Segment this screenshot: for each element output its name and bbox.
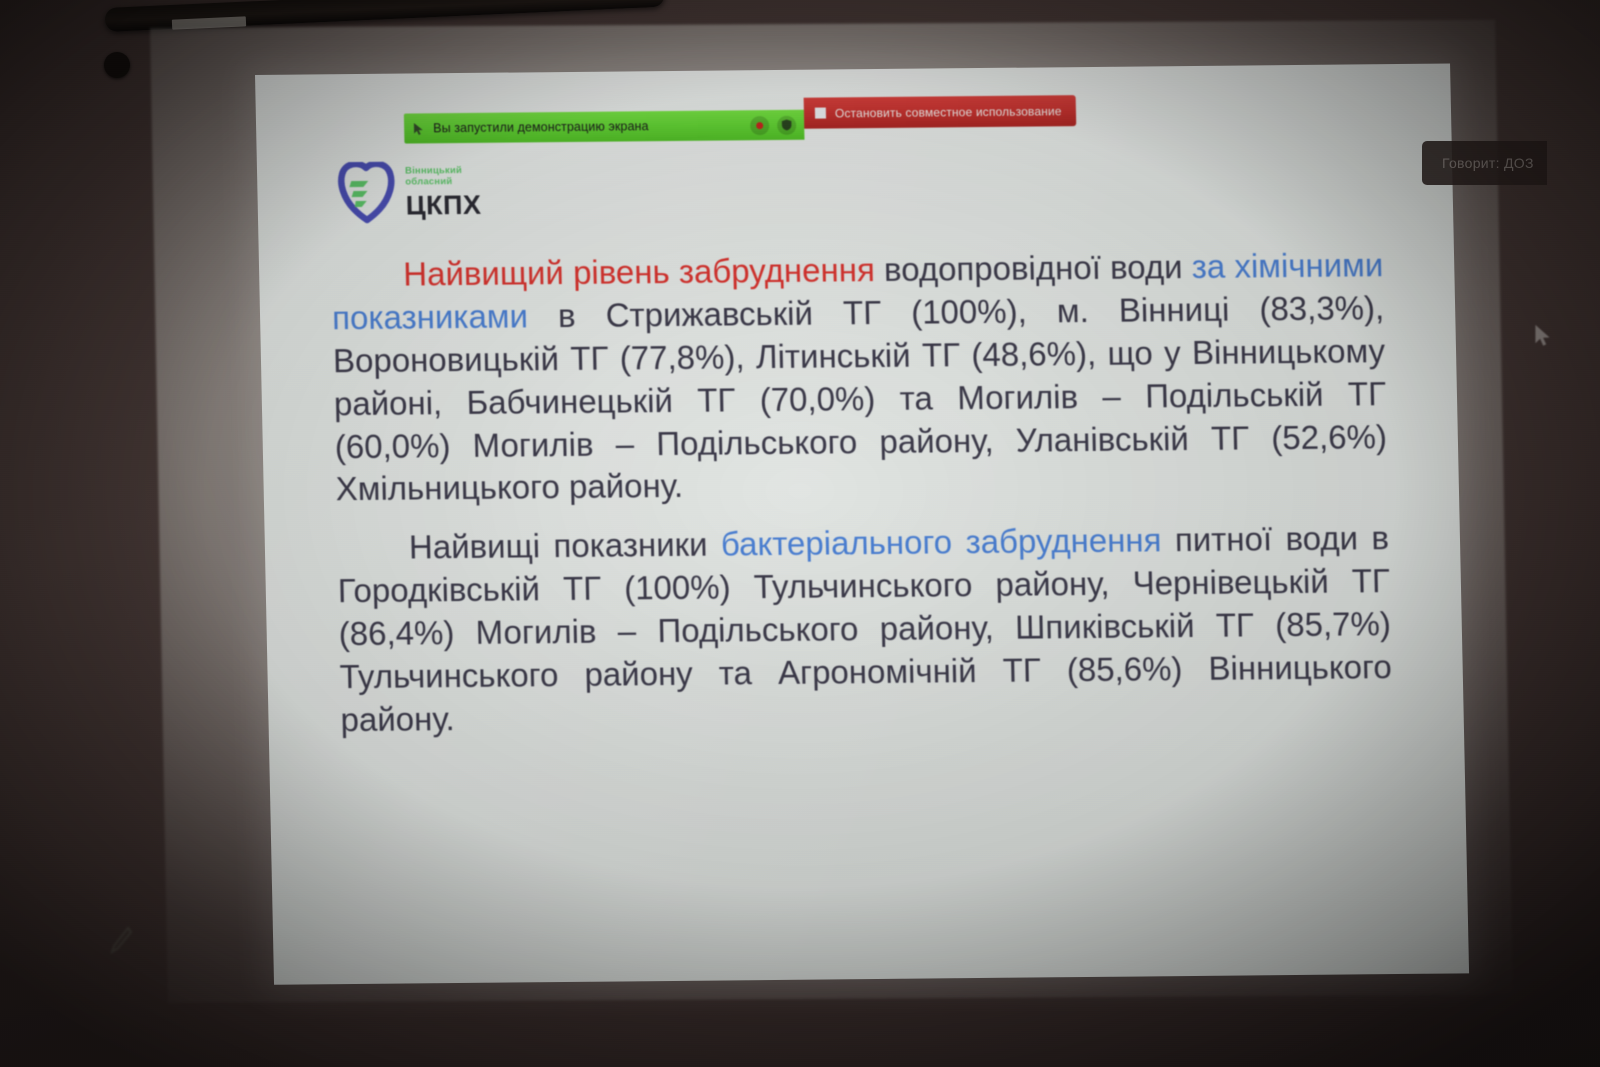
text-run-plain: Найвищі показники [409, 526, 722, 566]
record-dot-icon [756, 122, 763, 129]
share-status-label: Вы запустили демонстрацию экрана [433, 118, 742, 135]
roller-sticker [172, 16, 246, 29]
logo-subtitle-line-2: обласний [405, 177, 481, 187]
security-button[interactable] [777, 115, 796, 134]
room-scene: Вы запустили демонстрацию экрана Останов… [0, 0, 1600, 1067]
projected-slide: Вы запустили демонстрацию экрана Останов… [255, 64, 1469, 985]
logo-subtitle-line-1: Вінницький [405, 165, 481, 175]
active-speaker-label: Говорит: ДОЗ [1442, 155, 1534, 171]
slide-body-text: Найвищий рівень забруднення водопровідно… [331, 244, 1393, 742]
organization-logo: Вінницький обласний ЦКПХ [337, 161, 482, 224]
text-run-red: Найвищий рівень забруднення [403, 251, 875, 293]
text-run-blue: бактеріального забруднення [721, 522, 1162, 563]
stop-share-label: Остановить совместное использование [835, 104, 1062, 120]
slide-paragraph-chemical-contamination: Найвищий рівень забруднення водопровідно… [331, 244, 1388, 511]
shield-heart-logo-icon [337, 162, 396, 225]
active-speaker-badge: Говорит: ДОЗ [1422, 141, 1547, 185]
slide-paragraph-bacterial-contamination: Найвищі показники бактеріального забрудн… [336, 517, 1393, 742]
stop-square-icon [815, 108, 826, 119]
shield-icon [781, 119, 792, 131]
wall-scuff-mark [108, 925, 134, 955]
text-run-plain: водопровідної води [874, 248, 1192, 288]
logo-title: ЦКПХ [405, 191, 481, 219]
stop-share-button[interactable]: Остановить совместное использование [804, 95, 1076, 129]
screen-share-status-bar: Вы запустили демонстрацию экрана [404, 110, 805, 144]
record-button[interactable] [750, 116, 769, 135]
roller-end-cap [104, 52, 130, 78]
cursor-arrow-icon [412, 122, 425, 135]
logo-text: Вінницький обласний ЦКПХ [405, 165, 482, 219]
mouse-cursor-icon [1534, 324, 1551, 347]
